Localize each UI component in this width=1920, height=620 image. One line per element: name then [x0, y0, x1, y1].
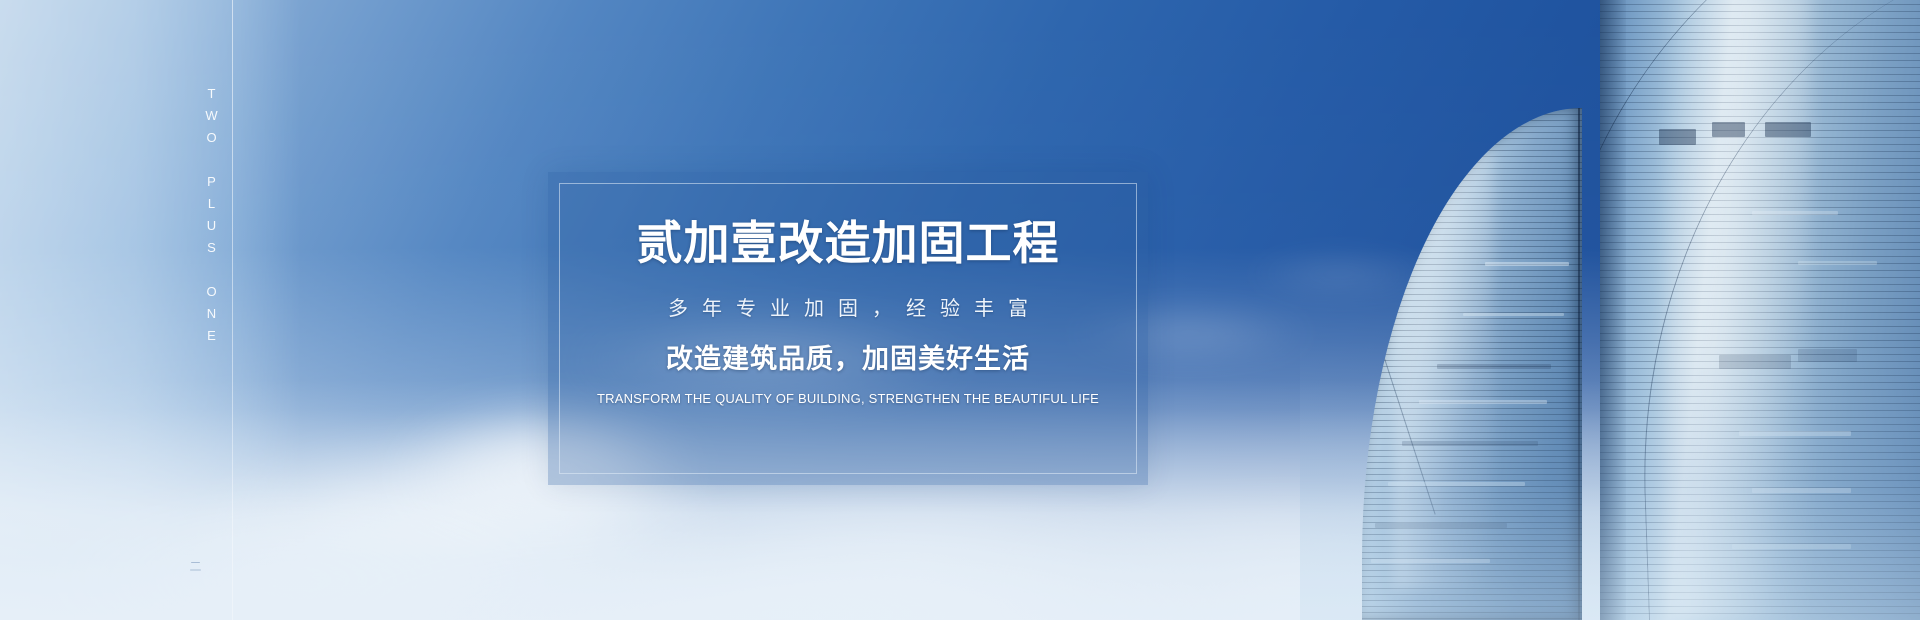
window-band [1485, 262, 1569, 266]
window-panel [1712, 122, 1745, 137]
window-band [1463, 313, 1564, 316]
hero-slogan-cn: 改造建筑品质，加固美好生活 [548, 346, 1148, 373]
window-band [1402, 441, 1538, 446]
vertical-divider [232, 0, 233, 620]
hero-slogan-en: TRANSFORM THE QUALITY OF BUILDING, STREN… [548, 392, 1148, 405]
window-band [1419, 400, 1547, 404]
hero-text-panel: 贰加壹改造加固工程 多年专业加固，经验丰富 改造建筑品质，加固美好生活 TRAN… [548, 172, 1148, 485]
corner-mark: 二 [180, 560, 204, 574]
window-band [1739, 431, 1851, 436]
hero-title: 贰加壹改造加固工程 [548, 220, 1148, 266]
window-band [1798, 261, 1877, 265]
skyscraper-photo [1300, 0, 1920, 620]
brand-vertical-text: TWO PLUS ONE [178, 86, 218, 350]
window-band [1388, 482, 1524, 486]
tower-front-edge [1578, 108, 1580, 620]
window-band [1732, 544, 1851, 549]
tower-front [1362, 108, 1582, 620]
window-band [1437, 364, 1551, 369]
window-band [1371, 559, 1490, 563]
window-band [1752, 211, 1838, 215]
window-panel [1719, 355, 1792, 369]
window-band [1752, 488, 1851, 493]
window-panel [1798, 349, 1857, 362]
sky-left-wash [0, 0, 300, 620]
window-panel [1765, 122, 1811, 137]
window-panel [1659, 129, 1695, 145]
panel-content: 贰加壹改造加固工程 多年专业加固，经验丰富 改造建筑品质，加固美好生活 TRAN… [548, 172, 1148, 405]
hero-banner: TWO PLUS ONE 二 贰加壹改造加固工程 多年专业加固，经验丰富 改造建… [0, 0, 1920, 620]
tower-rear [1600, 0, 1920, 620]
window-band [1375, 523, 1507, 528]
hero-subtitle: 多年专业加固，经验丰富 [548, 298, 1148, 318]
